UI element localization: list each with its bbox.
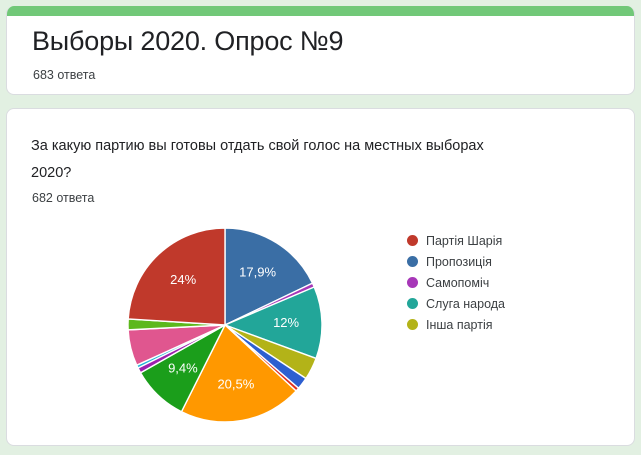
legend-item[interactable]: Партія Шарія <box>407 231 597 250</box>
question-response-count: 682 ответа <box>32 191 94 205</box>
page-title: Выборы 2020. Опрос №9 <box>32 26 343 57</box>
pie-chart[interactable]: 17,9%12%20,5%9,4%24% <box>125 225 325 425</box>
legend-color-swatch <box>407 319 418 330</box>
legend-item-label: Партія Шарія <box>426 234 502 248</box>
legend-item-label: Пропозиція <box>426 255 492 269</box>
legend-item[interactable]: Інша партія <box>407 315 597 334</box>
legend-item-label: Інша партія <box>426 318 493 332</box>
chart-legend: Партія ШаріяПропозиціяСамопомічСлуга нар… <box>407 231 597 336</box>
form-response-count: 683 ответа <box>33 68 95 82</box>
pie-slice-label: 24% <box>170 272 196 287</box>
legend-color-swatch <box>407 235 418 246</box>
pie-slice-label: 20,5% <box>217 377 254 392</box>
legend-item[interactable]: Самопоміч <box>407 273 597 292</box>
pie-slice-label: 12% <box>273 315 299 330</box>
form-header-card: Выборы 2020. Опрос №9 683 ответа <box>6 6 635 95</box>
poll-results-page: Выборы 2020. Опрос №9 683 ответа За каку… <box>0 0 641 455</box>
pie-slice-label: 9,4% <box>168 361 198 376</box>
accent-bar <box>7 6 634 16</box>
legend-color-swatch <box>407 277 418 288</box>
pie-slice-label: 17,9% <box>239 265 276 280</box>
legend-item[interactable]: Пропозиція <box>407 252 597 271</box>
legend-color-swatch <box>407 298 418 309</box>
legend-item-label: Слуга народа <box>426 297 505 311</box>
legend-color-swatch <box>407 256 418 267</box>
question-title: За какую партию вы готовы отдать свой го… <box>31 133 491 187</box>
question-card: За какую партию вы готовы отдать свой го… <box>6 108 635 446</box>
legend-item-label: Самопоміч <box>426 276 489 290</box>
legend-item[interactable]: Слуга народа <box>407 294 597 313</box>
